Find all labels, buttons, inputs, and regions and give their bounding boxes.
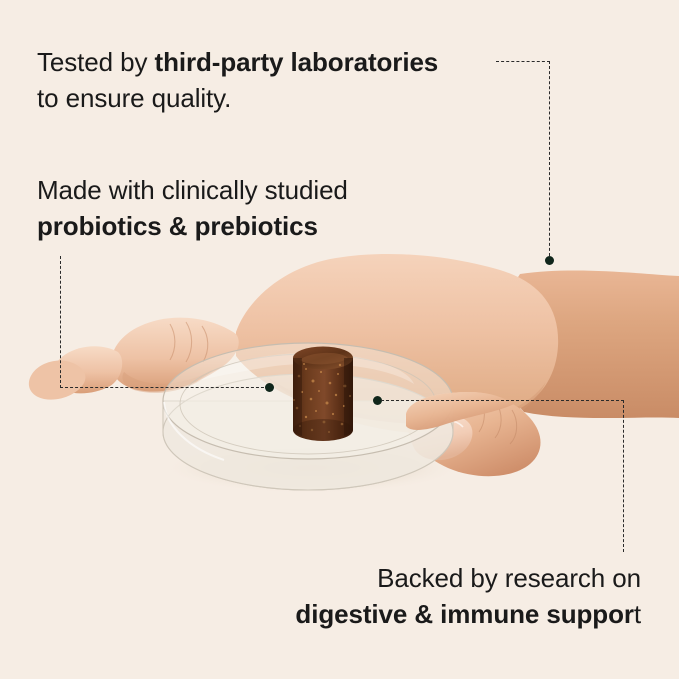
callout-text-bold: digestive & immune suppor: [295, 599, 633, 629]
leader-segment-horizontal: [496, 61, 550, 62]
callout-probiotics-prebiotics: Made with clinically studiedprobiotics &…: [37, 172, 348, 244]
callout-line: Tested by third-party laboratories: [37, 44, 438, 80]
chew-bottom: [293, 419, 353, 441]
callout-text-bold: third-party laboratories: [155, 47, 439, 77]
callout-text-regular: t: [634, 599, 641, 629]
callout-line: Made with clinically studied: [37, 172, 348, 208]
callout-text-regular: Backed by research on: [377, 563, 641, 593]
photo-svg: [0, 236, 679, 526]
product-photo: [0, 236, 679, 526]
callout-tested-by-labs: Tested by third-party laboratoriesto ens…: [37, 44, 438, 116]
callout-line: probiotics & prebiotics: [37, 208, 348, 244]
callout-text-regular: Made with clinically studied: [37, 175, 348, 205]
callout-backed-by-research: Backed by research ondigestive & immune …: [295, 560, 641, 632]
leader-endpoint-dot: [265, 383, 274, 392]
soft-chew: [293, 347, 353, 442]
callout-line: to ensure quality.: [37, 80, 438, 116]
leader-endpoint-dot: [373, 396, 382, 405]
callout-text-bold: probiotics & prebiotics: [37, 211, 318, 241]
callout-text-regular: Tested by: [37, 47, 155, 77]
leader-endpoint-dot: [545, 256, 554, 265]
leader-segment-vertical: [549, 61, 550, 261]
ring-finger: [29, 361, 86, 400]
callout-line: digestive & immune support: [295, 596, 641, 632]
infographic-canvas: Tested by third-party laboratoriesto ens…: [0, 0, 679, 679]
callout-line: Backed by research on: [295, 560, 641, 596]
callout-text-regular: to ensure quality.: [37, 83, 231, 113]
